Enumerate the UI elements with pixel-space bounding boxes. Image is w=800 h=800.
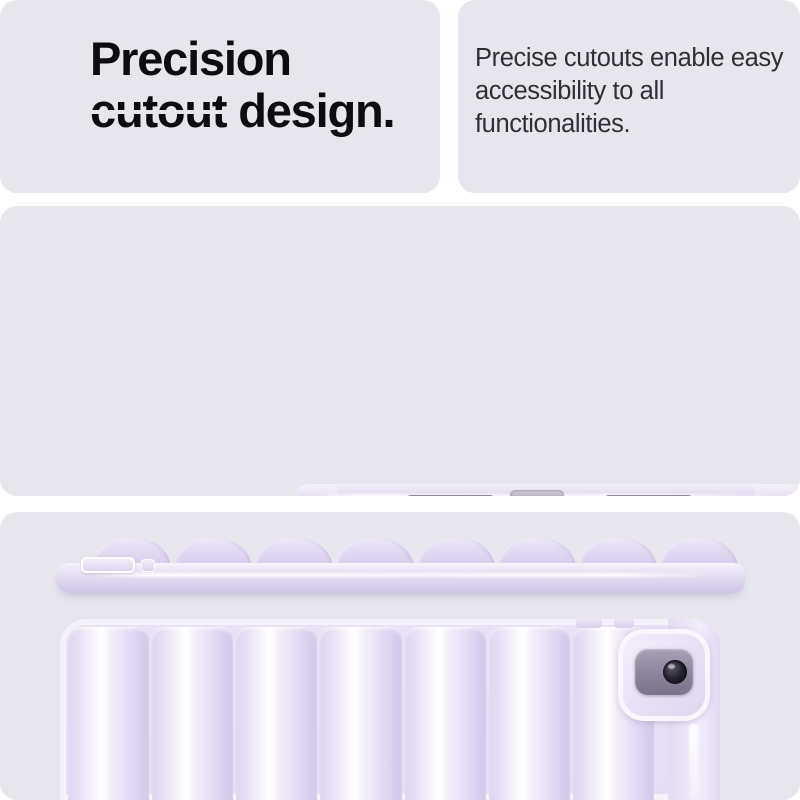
- subtext-card: Precise cutouts enable easy accessibilit…: [458, 0, 800, 193]
- case-rib: [405, 627, 486, 800]
- pencil-clip-detail: [81, 557, 135, 573]
- page-title: Precision cutout design.: [90, 33, 394, 137]
- case-back-panel: [60, 619, 720, 800]
- button-nub-volume: [576, 619, 602, 628]
- headline-card: Precision cutout design.: [0, 0, 440, 193]
- case-profile-rail: [55, 563, 745, 593]
- speaker-grille-left-icon: [404, 495, 497, 496]
- case-rib: [152, 627, 233, 800]
- case-design-card: [0, 512, 800, 800]
- button-nub-power: [614, 619, 634, 628]
- case-rib: [236, 627, 317, 800]
- case-back-ribs: [68, 627, 654, 800]
- case-side-profile: [55, 535, 745, 595]
- lens-glint: [668, 664, 675, 669]
- case-rib: [68, 627, 149, 800]
- label-charging-port: Charging port: [18, 492, 147, 496]
- tablet-bottom-edge-render: [292, 478, 800, 496]
- case-rib: [320, 627, 401, 800]
- camera-lens-icon: [663, 660, 687, 684]
- headline-line-2-rest: design.: [226, 84, 394, 137]
- case-rib: [489, 627, 570, 800]
- pencil-clip-tab: [141, 559, 155, 572]
- headline-line-1: Precision: [90, 32, 291, 85]
- ports-card: Charging port Touch ID: [0, 206, 800, 496]
- product-feature-page: Precision cutout design. Precise cutouts…: [0, 0, 800, 800]
- case-profile-gloss: [85, 573, 715, 577]
- subtext-body: Precise cutouts enable easy accessibilit…: [475, 42, 785, 141]
- headline-cut-word: cutout: [90, 85, 226, 137]
- headline-cut-word-text: cutout: [90, 84, 226, 137]
- headline-line-2: cutout design.: [90, 85, 394, 137]
- usb-c-port-cutout: [510, 490, 564, 496]
- speaker-grille-right-icon: [602, 495, 695, 496]
- camera-module: [635, 649, 693, 695]
- camera-cutout-housing: [618, 629, 710, 721]
- case-side-gloss: [689, 723, 698, 800]
